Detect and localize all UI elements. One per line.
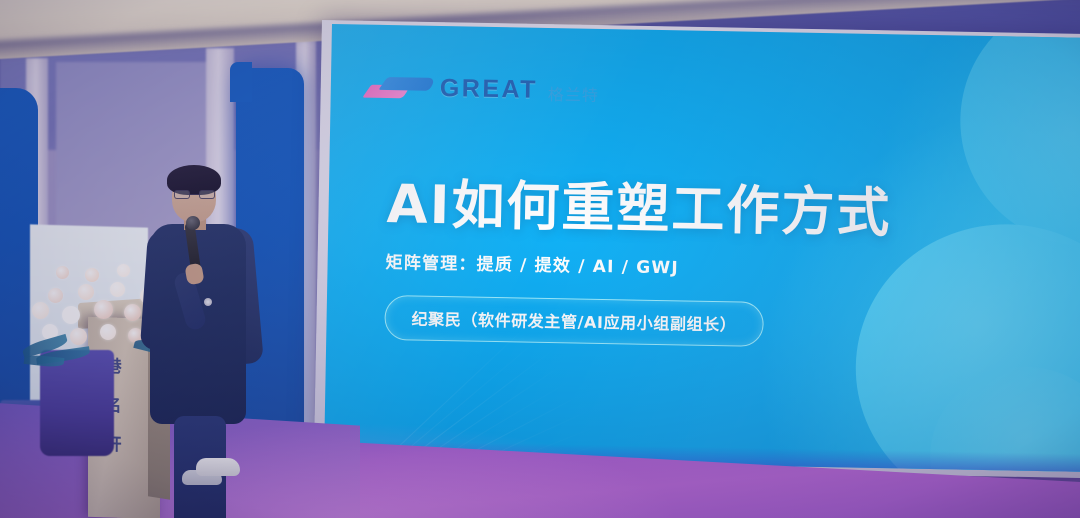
flower-bloom <box>62 306 80 324</box>
presenter-shoe-front <box>196 458 240 476</box>
flower-bloom <box>48 288 63 303</box>
presenter-badge <box>204 298 212 306</box>
brand-logo: GREAT 格兰特 <box>367 73 600 106</box>
flower-bloom <box>70 328 87 345</box>
flower-bloom <box>78 284 94 300</box>
brand-wordmark: GREAT <box>440 74 539 105</box>
led-screen: GREAT 格兰特 AI如何重塑工作方式 矩阵管理：提质 / 提效 / AI /… <box>324 24 1080 472</box>
slide-title: AI如何重塑工作方式 <box>386 177 987 244</box>
flower-bloom <box>94 300 113 319</box>
flower-bloom <box>56 266 69 279</box>
swoosh-icon <box>367 75 433 100</box>
glasses-icon <box>174 190 215 199</box>
flower-bloom <box>110 282 125 297</box>
flower-bloom <box>117 264 130 277</box>
flower-bloom <box>85 268 99 282</box>
stage-photo: GREAT 格兰特 AI如何重塑工作方式 矩阵管理：提质 / 提效 / AI /… <box>0 0 1080 518</box>
microphone-icon <box>186 216 200 230</box>
slide-subtitle: 矩阵管理：提质 / 提效 / AI / GWJ <box>385 248 985 284</box>
presenter <box>146 168 254 498</box>
flower-bloom <box>124 304 141 321</box>
brand-chinese-mark: 格兰特 <box>548 81 599 106</box>
flower-bloom <box>100 324 116 340</box>
slide-copy-block: AI如何重塑工作方式 矩阵管理：提质 / 提效 / AI / GWJ 纪聚民（软… <box>384 177 987 351</box>
flower-bloom <box>32 302 49 319</box>
speaker-name-badge: 纪聚民（软件研发主管/AI应用小组副组长） <box>384 295 764 347</box>
